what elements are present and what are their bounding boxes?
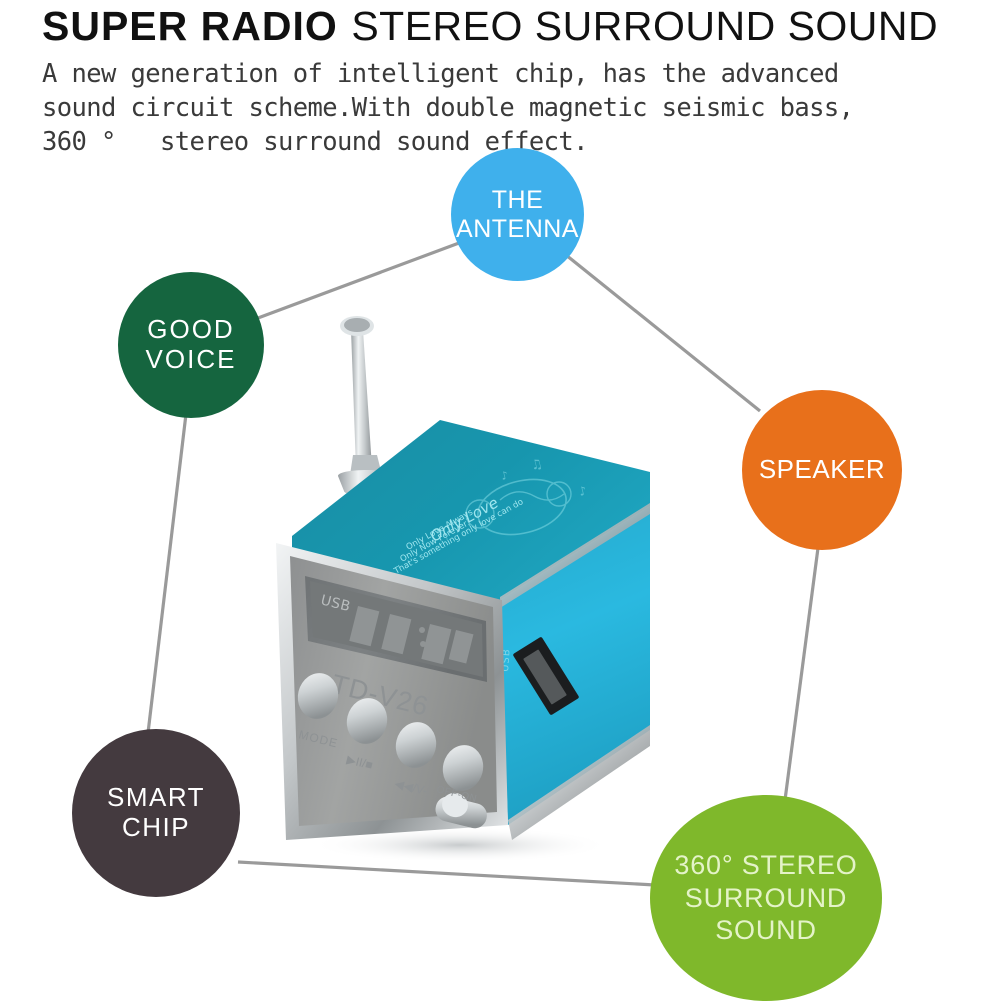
callout-speaker[interactable]: SPEAKER xyxy=(742,390,902,550)
lcd-colon-bottom xyxy=(420,641,426,647)
product-infographic: SUPER RADIO STEREO SURROUND SOUND A new … xyxy=(0,0,1001,1001)
callout-antenna-line-1: THE xyxy=(456,186,579,215)
callout-good-voice[interactable]: GOOD VOICE xyxy=(118,272,264,418)
callout-smart-chip-line-2: CHIP xyxy=(107,813,205,843)
lcd-colon-top xyxy=(419,627,425,633)
callout-smart-chip-line-1: SMART xyxy=(107,783,205,813)
callout-antenna[interactable]: THE ANTENNA xyxy=(451,148,584,281)
callout-good-voice-line-2: VOICE xyxy=(146,345,237,375)
callout-surround-line-2: SURROUND xyxy=(674,882,857,915)
callout-surround-sound[interactable]: 360° STEREO SURROUND SOUND xyxy=(650,795,882,1001)
callout-surround-line-3: SOUND xyxy=(674,914,857,947)
callout-smart-chip[interactable]: SMART CHIP xyxy=(72,729,240,897)
callout-surround-line-1: 360° STEREO xyxy=(674,849,857,882)
antenna-tip-inner xyxy=(344,318,370,332)
callout-good-voice-line-1: GOOD xyxy=(146,315,237,345)
antenna-rod xyxy=(351,330,372,468)
speaker-device: ♪ ♫ ♪ Only Love Only Love Always, Only N… xyxy=(250,300,650,860)
callout-antenna-line-2: ANTENNA xyxy=(456,215,579,244)
connector-speaker-surround xyxy=(785,548,818,800)
callout-speaker-line-1: SPEAKER xyxy=(759,455,885,485)
connector-surround-smart-chip xyxy=(238,862,655,885)
connector-smart-chip-good-voice xyxy=(148,414,186,733)
